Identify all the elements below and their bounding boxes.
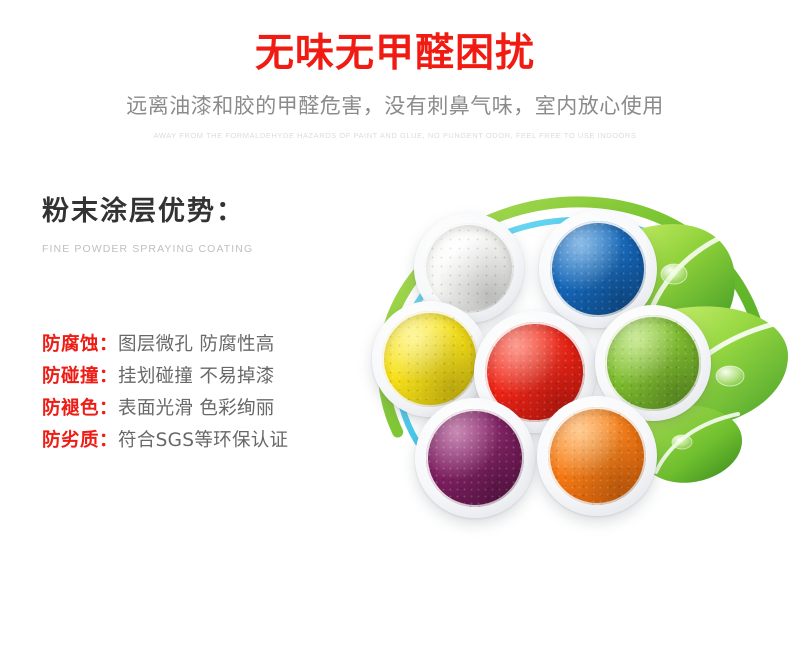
powder-surface-purple xyxy=(426,409,524,507)
list-item: 防劣质：符合SGS等环保认证 xyxy=(42,425,372,457)
water-droplet-icon xyxy=(716,366,744,386)
page-title: 无味无甲醛困扰 xyxy=(0,0,790,79)
powder-jar-purple xyxy=(415,398,535,518)
feature-label: 防腐蚀： xyxy=(42,334,118,355)
feature-value: 表面光滑 色彩绚丽 xyxy=(118,398,275,419)
powder-surface-green xyxy=(605,315,700,410)
page-subtitle-english: AWAY FROM THE FORMALDEHYDE HAZARDS OF PA… xyxy=(0,120,790,140)
powder-surface-blue xyxy=(550,221,647,318)
list-item: 防碰撞：挂划碰撞 不易掉漆 xyxy=(42,361,372,393)
powder-jar-orange xyxy=(537,396,657,516)
list-item: 防褪色：表面光滑 色彩绚丽 xyxy=(42,393,372,425)
page-subtitle: 远离油漆和胶的甲醛危害，没有刺鼻气味，室内放心使用 xyxy=(0,79,790,120)
water-droplet-icon xyxy=(661,264,687,284)
section-title-english: FINE POWDER SPRAYING COATING xyxy=(42,228,372,255)
advantages-panel: 粉末涂层优势： FINE POWDER SPRAYING COATING 防腐蚀… xyxy=(42,196,372,255)
feature-value: 挂划碰撞 不易掉漆 xyxy=(118,366,275,387)
header-banner: 无味无甲醛困扰 远离油漆和胶的甲醛危害，没有刺鼻气味，室内放心使用 AWAY F… xyxy=(0,0,790,140)
powder-surface-orange xyxy=(548,407,646,505)
feature-value: 图层微孔 防腐性高 xyxy=(118,334,275,355)
feature-label: 防碰撞： xyxy=(42,366,118,387)
feature-label: 防劣质： xyxy=(42,430,118,451)
list-item: 防腐蚀：图层微孔 防腐性高 xyxy=(42,329,372,361)
powder-surface-white xyxy=(424,223,514,313)
powder-surface-yellow xyxy=(382,311,477,406)
water-droplet-icon xyxy=(672,435,692,449)
powder-jars-illustration xyxy=(352,170,790,550)
feature-value: 符合SGS等环保认证 xyxy=(118,430,288,451)
feature-label: 防褪色： xyxy=(42,398,118,419)
section-title: 粉末涂层优势： xyxy=(42,196,372,228)
feature-list: 防腐蚀：图层微孔 防腐性高 防碰撞：挂划碰撞 不易掉漆 防褪色：表面光滑 色彩绚… xyxy=(42,329,372,457)
